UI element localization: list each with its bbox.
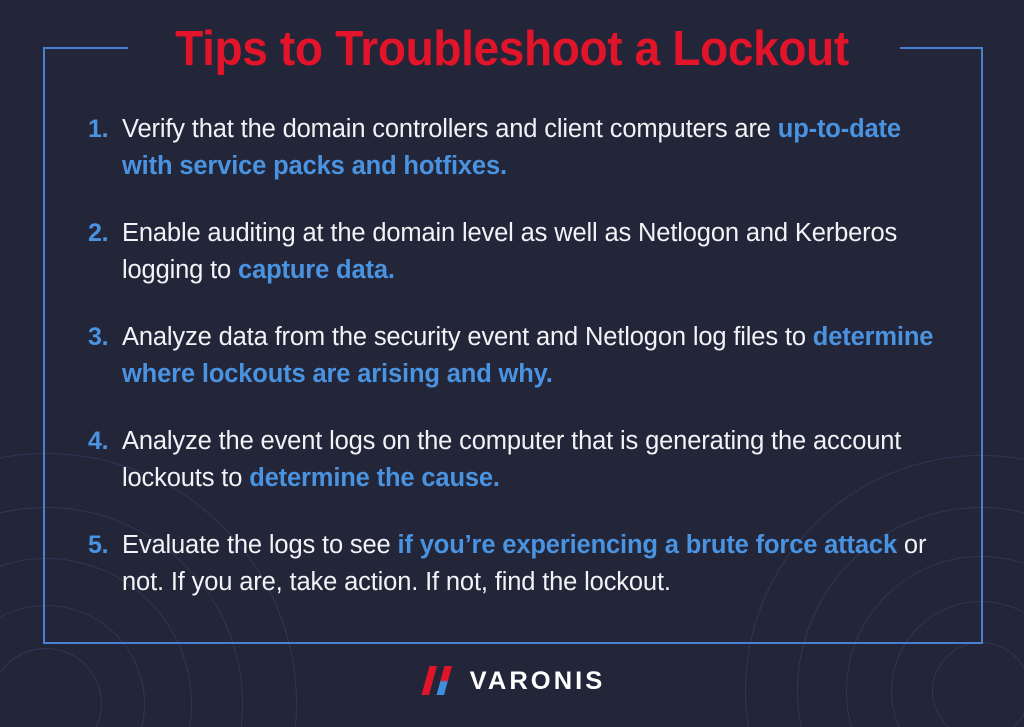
tip-item: 5.Evaluate the logs to see if you’re exp… bbox=[88, 527, 948, 601]
tip-item: 1.Verify that the domain controllers and… bbox=[88, 111, 948, 185]
frame-right-segment bbox=[981, 47, 983, 644]
varonis-wordmark: VARONIS bbox=[470, 668, 606, 695]
page-title: Tips to Troubleshoot a Lockout bbox=[31, 20, 994, 78]
tip-highlight-text: capture data. bbox=[238, 256, 395, 284]
tip-number: 1. bbox=[88, 111, 122, 148]
tip-highlight-text: if you’re experiencing a brute force att… bbox=[398, 531, 897, 559]
tip-text: Enable auditing at the domain level as w… bbox=[122, 215, 948, 289]
tip-text: Analyze the event logs on the computer t… bbox=[122, 423, 948, 497]
tip-text: Analyze data from the security event and… bbox=[122, 319, 948, 393]
tip-plain-text: Verify that the domain controllers and c… bbox=[122, 115, 778, 143]
tip-highlight-text: determine the cause. bbox=[249, 464, 500, 492]
tip-item: 4.Analyze the event logs on the computer… bbox=[88, 423, 948, 497]
tip-text: Evaluate the logs to see if you’re exper… bbox=[122, 527, 948, 601]
tip-plain-text: Analyze data from the security event and… bbox=[122, 323, 813, 351]
tip-item: 2.Enable auditing at the domain level as… bbox=[88, 215, 948, 289]
frame-bottom-segment bbox=[43, 642, 983, 644]
tip-plain-text: Evaluate the logs to see bbox=[122, 531, 398, 559]
tip-number: 3. bbox=[88, 319, 122, 356]
tips-list: 1.Verify that the domain controllers and… bbox=[88, 111, 948, 631]
frame-left-segment bbox=[43, 47, 45, 644]
tip-number: 5. bbox=[88, 527, 122, 564]
tip-plain-text: Analyze the event logs on the computer t… bbox=[122, 427, 901, 492]
tip-text: Verify that the domain controllers and c… bbox=[122, 111, 948, 185]
tip-number: 4. bbox=[88, 423, 122, 460]
varonis-mark-icon bbox=[420, 666, 460, 696]
infographic-poster: Tips to Troubleshoot a Lockout 1.Verify … bbox=[0, 0, 1024, 727]
tip-number: 2. bbox=[88, 215, 122, 252]
varonis-logo: VARONIS bbox=[0, 666, 1024, 696]
tip-item: 3.Analyze data from the security event a… bbox=[88, 319, 948, 393]
